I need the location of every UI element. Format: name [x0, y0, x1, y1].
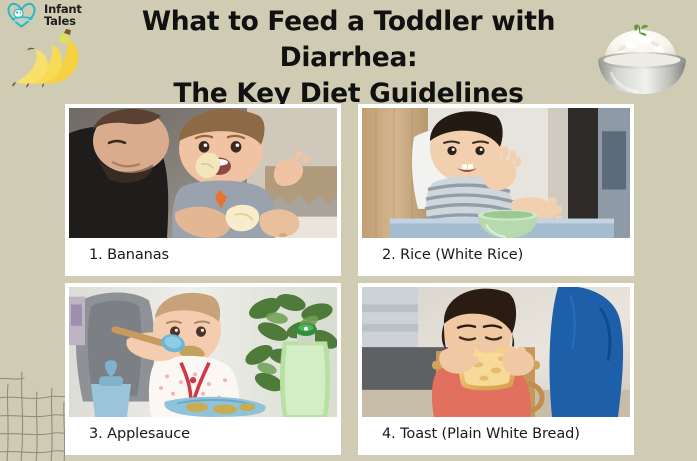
page-title: What to Feed a Toddler with Diarrhea: Th… [88, 4, 609, 112]
food-card-bananas[interactable]: 1. Bananas [65, 104, 341, 276]
brand-logo[interactable]: Infant Tales [6, 2, 82, 29]
header: Infant Tales What to Feed a Toddler with… [0, 0, 697, 100]
page-title-line-1: What to Feed a Toddler with Diarrhea: [88, 4, 609, 76]
boy-eating-toast-photo [362, 287, 630, 417]
infant-tales-logo-icon [6, 2, 40, 29]
food-card-caption: 2. Rice (White Rice) [362, 238, 630, 272]
toddler-eating-banana-photo [69, 108, 337, 238]
food-card-rice[interactable]: 2. Rice (White Rice) [358, 104, 634, 276]
baby-eating-applesauce-with-spoon-photo [69, 287, 337, 417]
food-card-applesauce[interactable]: 3. Applesauce [65, 283, 341, 455]
rice-bowl-photo [589, 14, 695, 96]
brand-logo-text: Infant Tales [44, 4, 82, 27]
hand-drawn-grid-doodle [0, 362, 66, 461]
brand-logo-line-2: Tales [44, 16, 82, 28]
food-card-grid: 1. Bananas [65, 104, 634, 455]
toddler-in-highchair-with-rice-bowl-photo [362, 108, 630, 238]
bananas-illustration [8, 27, 88, 89]
food-card-toast[interactable]: 4. Toast (Plain White Bread) [358, 283, 634, 455]
food-card-caption: 4. Toast (Plain White Bread) [362, 417, 630, 451]
food-card-caption: 1. Bananas [69, 238, 337, 272]
food-card-caption: 3. Applesauce [69, 417, 337, 451]
